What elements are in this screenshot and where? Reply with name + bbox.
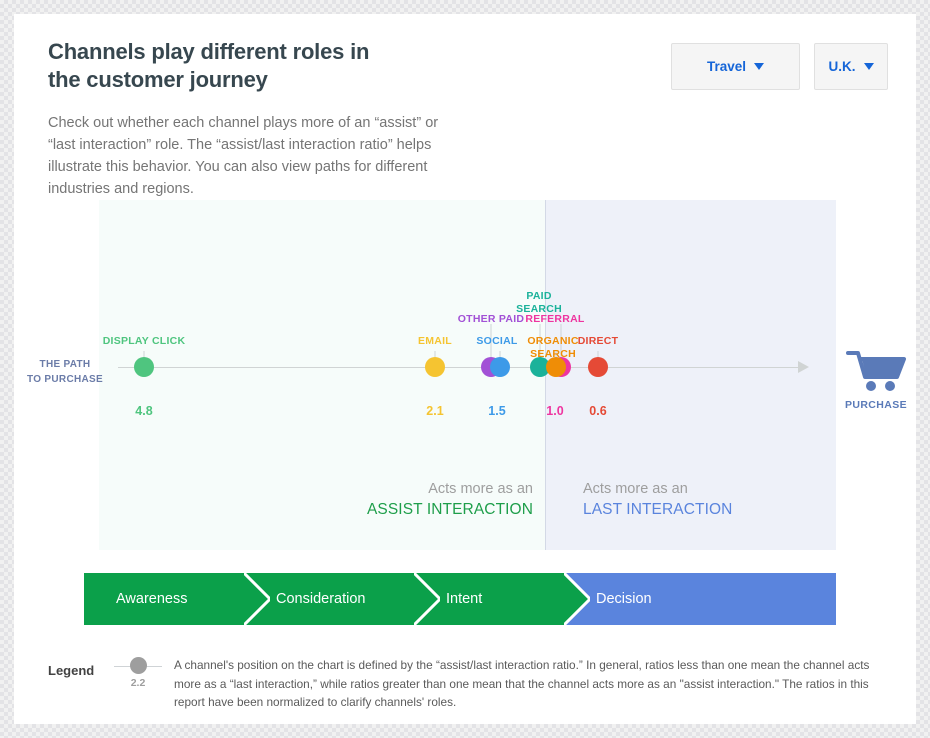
channel-label: PAID SEARCH: [516, 290, 562, 316]
funnel-stage-awareness[interactable]: Awareness: [84, 573, 244, 625]
channel-ratio-value: 4.8: [135, 404, 152, 418]
channel-ratio-value: 1.5: [488, 404, 505, 418]
legend-sample-dot-icon: [130, 657, 147, 674]
purchase-label: PURCHASE: [834, 399, 918, 411]
funnel-stage-label: Consideration: [244, 591, 365, 607]
region-dropdown[interactable]: U.K.: [814, 43, 888, 90]
channel-label: DIRECT: [578, 335, 619, 348]
chevron-down-icon: [754, 63, 764, 70]
funnel-stage-label: Intent: [414, 591, 482, 607]
region-dropdown-label: U.K.: [829, 59, 856, 74]
channel-data-point[interactable]: [588, 357, 608, 377]
filter-controls: Travel U.K.: [671, 43, 888, 90]
channel-data-point[interactable]: [490, 357, 510, 377]
last-interaction-caption: Acts more as an LAST INTERACTION: [583, 480, 783, 520]
path-axis-line: [118, 367, 798, 368]
assist-region-background: [99, 200, 545, 550]
legend-description: A channel's position on the chart is def…: [164, 653, 883, 712]
chevron-down-icon: [864, 63, 874, 70]
legend-sample: 2.2: [112, 653, 164, 689]
funnel-stages: AwarenessConsiderationIntentDecision: [84, 573, 836, 625]
page-subtitle: Check out whether each channel plays mor…: [48, 112, 503, 200]
legend-title: Legend: [48, 653, 112, 678]
legend-sample-value: 2.2: [112, 677, 164, 689]
channel-ratio-value: 2.1: [426, 404, 443, 418]
assist-caption-sub: Acts more as an: [314, 480, 533, 500]
funnel-stage-decision[interactable]: Decision: [564, 573, 836, 625]
shopping-cart-icon: [834, 349, 918, 393]
axis-arrow-icon: [798, 361, 809, 373]
last-caption-sub: Acts more as an: [583, 480, 783, 500]
assist-interaction-caption: Acts more as an ASSIST INTERACTION: [314, 480, 533, 520]
industry-dropdown-label: Travel: [707, 59, 746, 74]
industry-dropdown[interactable]: Travel: [671, 43, 800, 90]
channel-label: EMAIL: [418, 335, 452, 348]
channel-label: REFERRAL: [525, 313, 584, 326]
channel-ratio-value: 0.6: [589, 404, 606, 418]
funnel-stage-label: Decision: [564, 591, 652, 607]
funnel-stage-label: Awareness: [84, 591, 187, 607]
axis-title: THE PATH TO PURCHASE: [22, 358, 108, 387]
channel-data-point[interactable]: [425, 357, 445, 377]
report-card: Channels play different roles in the cus…: [14, 14, 916, 724]
last-interaction-region-background: [545, 200, 836, 550]
channel-data-point[interactable]: [546, 357, 566, 377]
channel-ratio-value: 1.0: [546, 404, 563, 418]
channel-label: OTHER PAID: [458, 313, 524, 326]
last-caption-main: LAST INTERACTION: [583, 500, 783, 521]
channel-data-point[interactable]: [134, 357, 154, 377]
legend: Legend 2.2 A channel's position on the c…: [48, 653, 883, 712]
channel-label: SOCIAL: [476, 335, 517, 348]
assist-caption-main: ASSIST INTERACTION: [314, 500, 533, 521]
channel-label: DISPLAY CLICK: [103, 335, 186, 348]
purchase-endpoint: PURCHASE: [834, 349, 918, 411]
